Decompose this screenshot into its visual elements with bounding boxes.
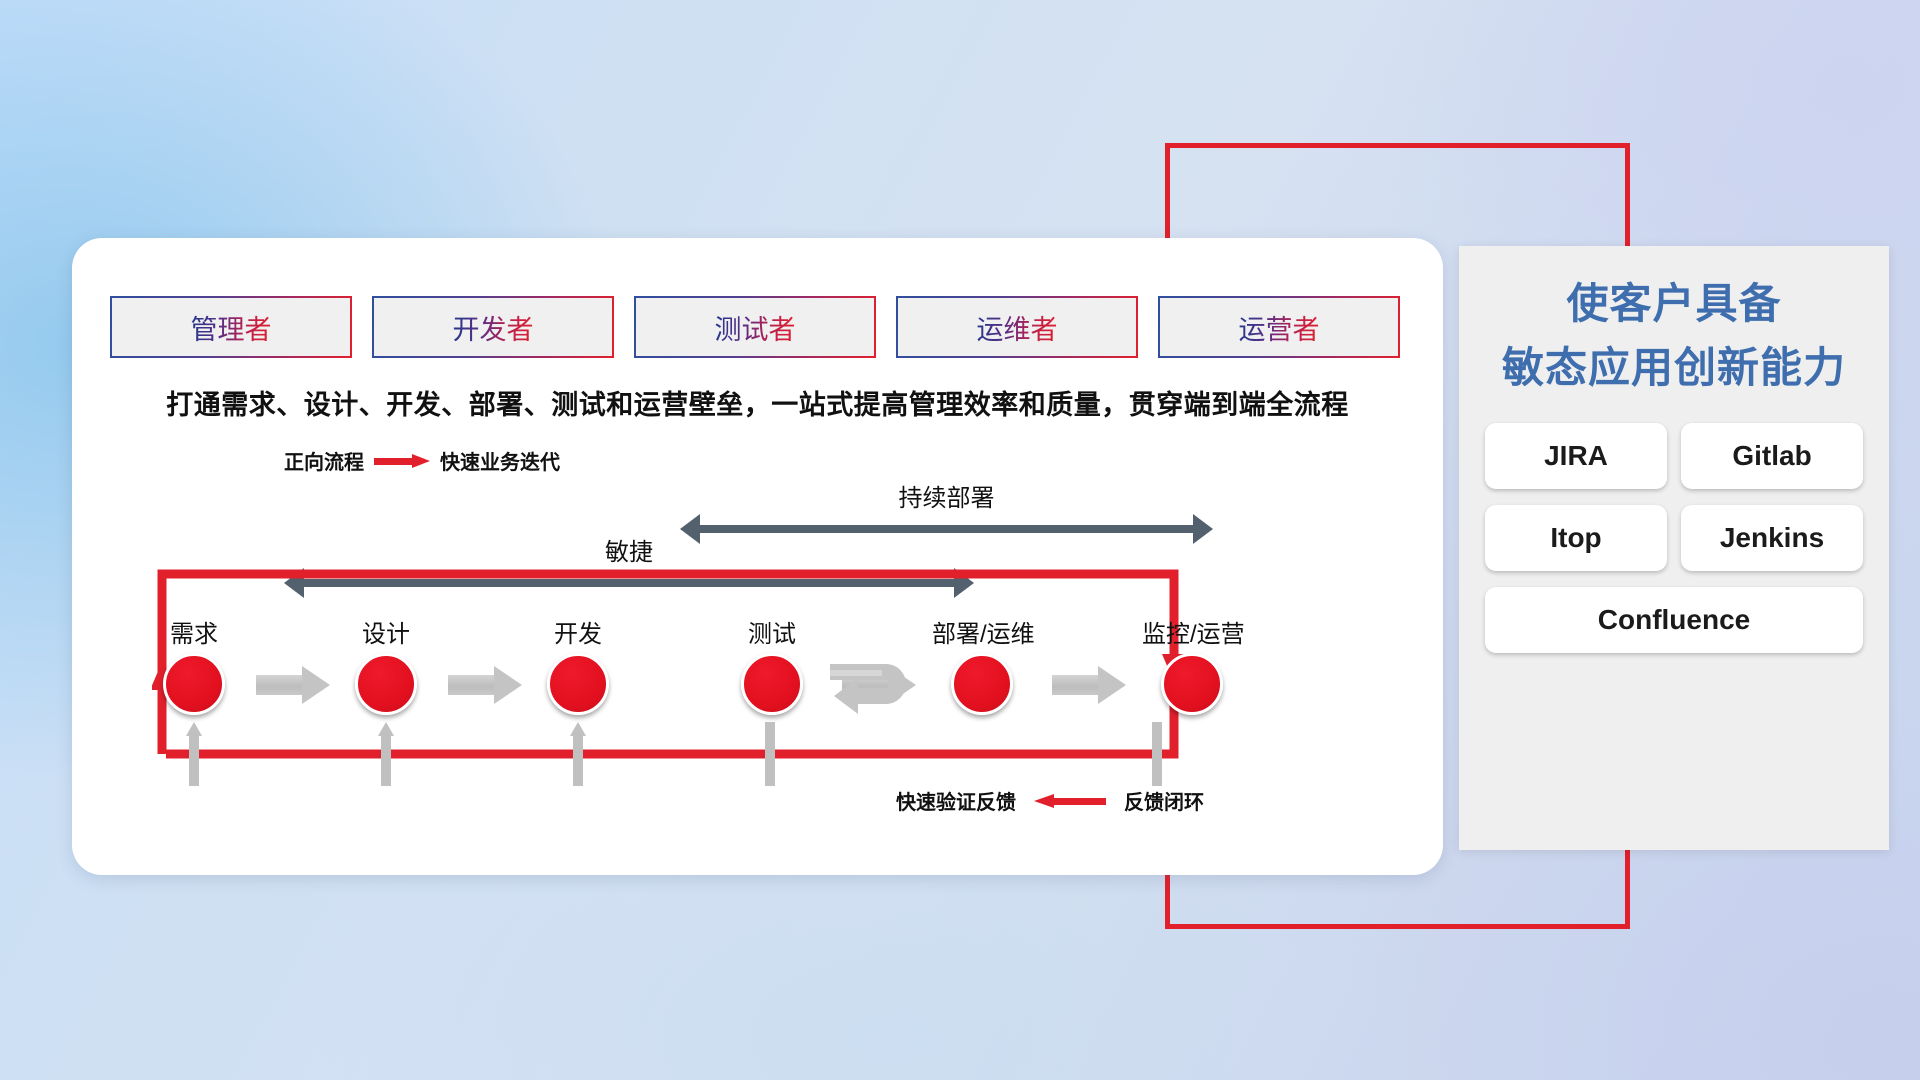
panel-heading: 使客户具备 敏态应用创新能力 bbox=[1485, 274, 1863, 397]
pipeline-stage-row: 需求 设计 开发 测试 部署/运维 监控/运营 bbox=[120, 614, 1400, 784]
arrow-left-red-icon bbox=[1034, 794, 1106, 808]
role-box-developer[interactable]: 开发者 bbox=[372, 296, 614, 358]
stage-label: 监控/运营 bbox=[1142, 614, 1242, 649]
stage-label: 测试 bbox=[722, 614, 822, 649]
panel-heading-line-2: 敏态应用创新能力 bbox=[1485, 338, 1863, 398]
stage-dot-icon bbox=[741, 653, 803, 715]
stage-node-design[interactable]: 设计 bbox=[336, 614, 436, 715]
tool-chip-jenkins[interactable]: Jenkins bbox=[1681, 505, 1863, 571]
legend-forward-flow: 正向流程 快速业务迭代 bbox=[284, 446, 560, 475]
stage-node-monitor-operations[interactable]: 监控/运营 bbox=[1142, 614, 1242, 715]
span-label-continuous-deployment: 持续部署 bbox=[680, 478, 1213, 513]
role-box-manager[interactable]: 管理者 bbox=[110, 296, 352, 358]
arrow-right-red-icon bbox=[374, 454, 430, 468]
legend-feedback-right-label: 反馈闭环 bbox=[1124, 786, 1204, 815]
slide-canvas: 管理者 开发者 测试者 运维者 运营者 打通需求、设计、开发、部署、测试和运营壁… bbox=[0, 0, 1920, 1080]
value-proposition-panel: 使客户具备 敏态应用创新能力 JIRA Gitlab Itop Jenkins … bbox=[1459, 246, 1889, 850]
stage-dot-icon bbox=[163, 653, 225, 715]
loop-back-arrow-icon bbox=[828, 656, 932, 718]
legend-forward-left-label: 正向流程 bbox=[284, 446, 364, 475]
role-label: 运维者 bbox=[977, 308, 1058, 347]
tool-chip-gitlab[interactable]: Gitlab bbox=[1681, 423, 1863, 489]
role-box-operations[interactable]: 运营者 bbox=[1158, 296, 1400, 358]
stage-label: 设计 bbox=[336, 614, 436, 649]
stage-label: 开发 bbox=[528, 614, 628, 649]
flow-arrow-deploy-to-monitor bbox=[1052, 666, 1126, 704]
role-box-ops[interactable]: 运维者 bbox=[896, 296, 1138, 358]
flow-arrow-design-to-dev bbox=[448, 666, 522, 704]
stem-up-requirement bbox=[186, 722, 202, 786]
stage-dot-icon bbox=[355, 653, 417, 715]
tool-chip-grid: JIRA Gitlab Itop Jenkins Confluence bbox=[1485, 423, 1863, 653]
stage-label: 部署/运维 bbox=[932, 614, 1032, 649]
role-label: 测试者 bbox=[715, 308, 796, 347]
role-label: 开发者 bbox=[453, 308, 534, 347]
role-box-row: 管理者 开发者 测试者 运维者 运营者 bbox=[110, 296, 1400, 358]
panel-heading-line-1: 使客户具备 bbox=[1485, 274, 1863, 334]
stage-dot-icon bbox=[1161, 653, 1223, 715]
legend-forward-right-label: 快速业务迭代 bbox=[440, 446, 560, 475]
legend-feedback-left-label: 快速验证反馈 bbox=[896, 786, 1016, 815]
stage-dot-icon bbox=[547, 653, 609, 715]
devops-main-card: 管理者 开发者 测试者 运维者 运营者 打通需求、设计、开发、部署、测试和运营壁… bbox=[72, 238, 1443, 875]
stage-label: 需求 bbox=[144, 614, 244, 649]
description-text: 打通需求、设计、开发、部署、测试和运营壁垒，一站式提高管理效率和质量，贯穿端到端… bbox=[72, 383, 1443, 422]
role-label: 管理者 bbox=[191, 308, 272, 347]
flow-arrow-req-to-design bbox=[256, 666, 330, 704]
role-label: 运营者 bbox=[1239, 308, 1320, 347]
role-box-tester[interactable]: 测试者 bbox=[634, 296, 876, 358]
stage-dot-icon bbox=[951, 653, 1013, 715]
stage-node-requirement[interactable]: 需求 bbox=[144, 614, 244, 715]
stage-node-deploy-ops[interactable]: 部署/运维 bbox=[932, 614, 1032, 715]
stage-node-development[interactable]: 开发 bbox=[528, 614, 628, 715]
stem-down-test bbox=[765, 722, 775, 786]
arrow-right-head-icon bbox=[1193, 514, 1213, 544]
tool-chip-confluence[interactable]: Confluence bbox=[1485, 587, 1863, 653]
stem-up-development bbox=[570, 722, 586, 786]
tool-chip-itop[interactable]: Itop bbox=[1485, 505, 1667, 571]
legend-feedback-loop: 快速验证反馈 反馈闭环 bbox=[896, 786, 1204, 815]
stem-up-design bbox=[378, 722, 394, 786]
stem-down-monitoring bbox=[1152, 722, 1162, 786]
tool-chip-jira[interactable]: JIRA bbox=[1485, 423, 1667, 489]
stage-node-test[interactable]: 测试 bbox=[722, 614, 822, 715]
